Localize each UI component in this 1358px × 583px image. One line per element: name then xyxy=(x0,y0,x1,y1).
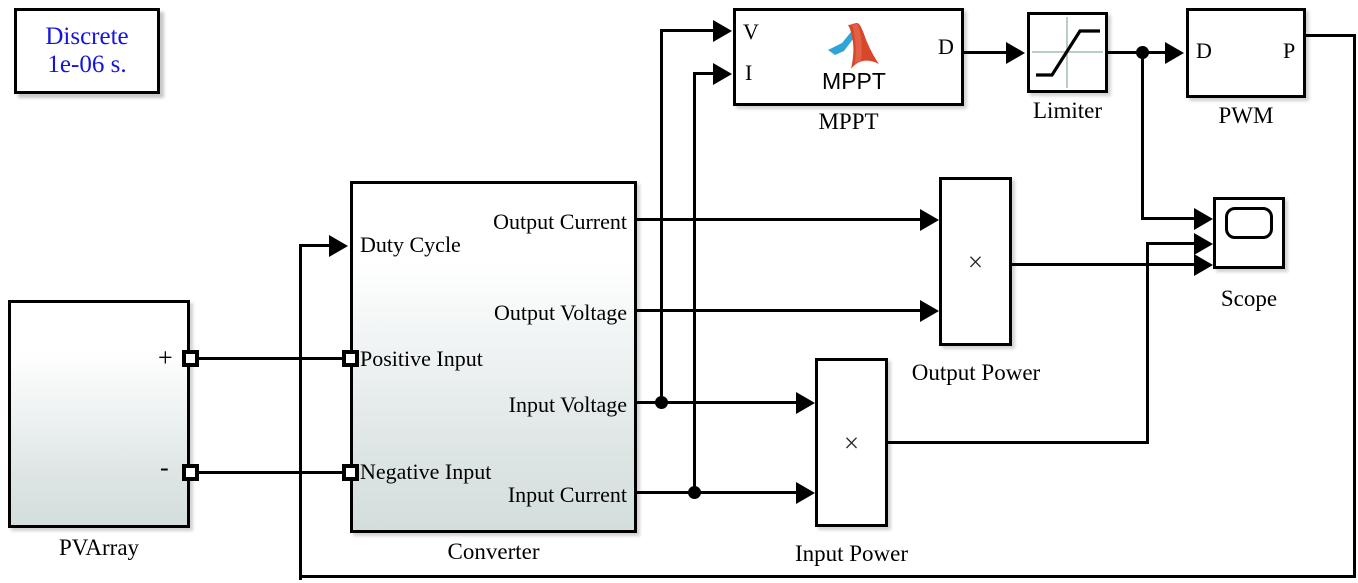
limiter-block[interactable] xyxy=(1027,12,1108,93)
wire-input-current xyxy=(637,491,800,494)
discrete-solver-annotation: Discrete 1e-06 s. xyxy=(14,8,160,94)
discrete-label-line1: Discrete xyxy=(45,23,128,51)
wire-scope-in1-horizontal xyxy=(1141,217,1199,220)
wire-duty-feedback-horizontal xyxy=(299,244,332,247)
converter-caption: Converter xyxy=(350,540,637,563)
wire-pwm-feedback-bottom-rail xyxy=(299,575,1356,578)
converter-input-negative-label: Negative Input xyxy=(360,461,491,483)
wire-duty-feedback-vertical xyxy=(299,244,302,580)
output-power-operator: × xyxy=(939,249,1012,276)
arrow-input-power-in1 xyxy=(796,392,815,414)
arrow-output-power-in2 xyxy=(920,300,939,322)
pvarray-negative-terminal-label: - xyxy=(160,455,169,481)
converter-positive-input-port[interactable] xyxy=(342,350,359,367)
wire-pv-negative xyxy=(196,471,344,474)
mppt-icon-label: MPPT xyxy=(818,70,890,93)
mppt-caption: MPPT xyxy=(733,110,964,133)
converter-input-current-label: Input Current xyxy=(387,484,627,506)
arrow-converter-duty-cycle xyxy=(329,235,348,257)
wire-output-current xyxy=(637,218,924,221)
arrow-mppt-i-input xyxy=(713,63,732,85)
input-power-caption: Input Power xyxy=(770,542,933,565)
pwm-output-p-label: P xyxy=(1283,40,1295,62)
arrow-limiter-input xyxy=(1006,42,1025,64)
pwm-caption: PWM xyxy=(1186,104,1306,127)
discrete-label-line2: 1e-06 s. xyxy=(47,51,126,79)
limiter-caption: Limiter xyxy=(1007,99,1128,122)
wire-pwm-feedback-vertical xyxy=(1353,34,1356,578)
converter-negative-input-port[interactable] xyxy=(342,464,359,481)
wire-scope-in2-horizontal xyxy=(1146,242,1199,245)
input-power-operator: × xyxy=(815,430,888,457)
arrow-pwm-d-input xyxy=(1165,42,1184,64)
mppt-output-d-label: D xyxy=(938,36,954,58)
converter-output-current-label: Output Current xyxy=(387,211,627,233)
pvarray-caption: PVArray xyxy=(8,536,190,559)
wire-mppt-v-vertical xyxy=(660,29,663,403)
pvarray-positive-terminal-label: + xyxy=(158,345,173,371)
wire-input-power-out-vertical xyxy=(1146,242,1149,444)
converter-input-voltage-label: Input Voltage xyxy=(387,394,627,416)
pwm-input-d-label: D xyxy=(1196,40,1212,62)
arrow-mppt-v-input xyxy=(713,20,732,42)
scope-caption: Scope xyxy=(1193,287,1305,310)
wire-input-power-out-horizontal xyxy=(888,441,1149,444)
arrow-output-power-in1 xyxy=(920,209,939,231)
output-power-caption: Output Power xyxy=(885,361,1067,384)
simulink-diagram-canvas: Discrete 1e-06 s. + - PVArray Duty Cycle… xyxy=(0,0,1358,583)
wire-output-voltage xyxy=(637,309,924,312)
mppt-input-v-label: V xyxy=(743,21,759,43)
arrow-input-power-in2 xyxy=(796,482,815,504)
converter-output-voltage-label: Output Voltage xyxy=(387,302,627,324)
wire-pwm-out-horizontal xyxy=(1306,34,1356,37)
wire-mppt-to-limiter xyxy=(964,51,1009,54)
matlab-membrane-logo-icon xyxy=(826,20,882,72)
converter-input-duty-cycle-label: Duty Cycle xyxy=(360,234,461,256)
scope-screen-icon xyxy=(1225,207,1273,239)
wire-scope-in1-vertical xyxy=(1141,51,1144,219)
wire-mppt-v-horizontal xyxy=(660,29,716,32)
arrow-scope-in2 xyxy=(1194,233,1213,255)
pvarray-block[interactable] xyxy=(8,300,190,528)
saturation-curve-icon xyxy=(1030,15,1105,90)
converter-input-positive-label: Positive Input xyxy=(360,348,483,370)
mppt-input-i-label: I xyxy=(745,62,752,84)
arrow-scope-in3 xyxy=(1194,254,1213,276)
wire-mppt-i-vertical xyxy=(693,72,696,492)
arrow-scope-in1 xyxy=(1194,208,1213,230)
wire-output-power-out xyxy=(1012,263,1199,266)
wire-pv-positive xyxy=(196,357,344,360)
